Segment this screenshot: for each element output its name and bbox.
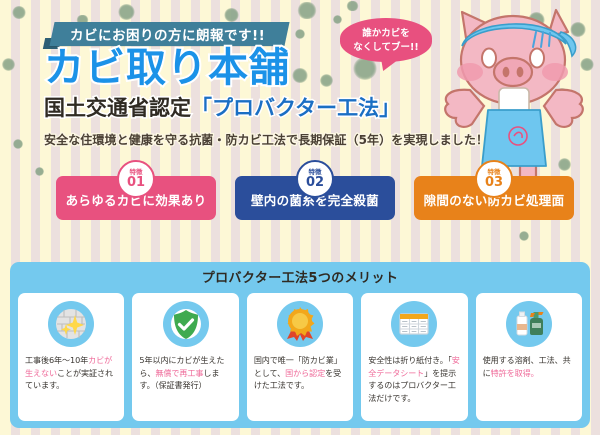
mold-blob-icon — [348, 2, 357, 10]
mold-blob-icon — [294, 70, 306, 81]
mold-blob-icon — [120, 6, 133, 18]
merit-text-highlight: 特許を取得。 — [491, 368, 539, 378]
mold-blob-icon — [322, 76, 331, 85]
merit-text: 5年以内にカビが生えたら、無償で再工事します。（保証書発行） — [139, 354, 231, 392]
mold-blob-icon — [4, 60, 13, 69]
feature-card-01[interactable]: 特徴 01 あらゆるカビに効果あり — [56, 176, 216, 220]
mold-blob-icon — [14, 140, 22, 148]
announcement-ribbon: カビにお困りの方に朗報です!! — [49, 22, 289, 46]
merits-panel: プロバクター工法5つのメリット — [10, 262, 590, 428]
page-title: カビ取り本舗 — [44, 48, 290, 88]
merit-text-part: 安全性は折り紙付き。「 — [368, 355, 451, 365]
landing-page: カビにお困りの方に朗報です!! カビ取り本舗 国土交通省認定「プロバクター工法」… — [0, 0, 600, 435]
merit-text: 国内で唯一「防カビ業」として、国から認定を受けた工法です。 — [254, 354, 346, 392]
bubble-line-1: 誰かカビを — [362, 28, 410, 39]
merit-card[interactable]: 安全性は折り紙付き。「安全データシート」を提示するのはプロバクター工法だけです。 — [361, 293, 467, 421]
speech-bubble: 誰かカビを なくしてブー!! — [340, 18, 432, 62]
feature-badge-number: 01 — [127, 176, 145, 189]
merit-text-highlight: 国から認定 — [285, 368, 325, 378]
merit-card[interactable]: 工事後6年〜10年カビが生えないことが実証されています。 — [18, 293, 124, 421]
feature-card-02[interactable]: 特徴 02 壁内の菌糸を完全殺菌 — [235, 176, 395, 220]
merit-text-part: 工事後6年〜10年 — [25, 355, 88, 365]
mold-blob-icon — [520, 232, 528, 240]
merit-text: 安全性は折り紙付き。「安全データシート」を提示するのはプロバクター工法だけです。 — [368, 354, 460, 404]
feature-number-badge: 特徴 02 — [296, 160, 334, 198]
gold-award-rosette-icon — [277, 301, 323, 347]
bubble-line-2: なくしてブー!! — [353, 42, 418, 53]
ribbon-text: カビにお困りの方に朗報です!! — [70, 24, 265, 44]
feature-badge-number: 03 — [485, 176, 503, 189]
mold-blob-icon — [226, 10, 237, 20]
mold-blob-icon — [356, 60, 374, 77]
mold-blob-icon — [296, 30, 304, 38]
feature-card-03[interactable]: 特徴 03 隙間のない防カビ処理面 — [414, 176, 574, 220]
sparkling-wall-icon — [48, 301, 94, 347]
merit-card[interactable]: 5年以内にカビが生えたら、無償で再工事します。（保証書発行） — [132, 293, 238, 421]
subtitle-certification: 国土交通省認定 — [44, 96, 191, 120]
subtitle: 国土交通省認定「プロバクター工法」 — [44, 98, 400, 119]
feature-number-badge: 特徴 01 — [117, 160, 155, 198]
mold-blob-icon — [14, 8, 24, 17]
merit-text: 使用する溶剤、工法、共に特許を取得。 — [483, 354, 575, 379]
safety-data-sheet-icon — [391, 301, 437, 347]
feature-badge-number: 02 — [306, 176, 324, 189]
feature-badge-list: 特徴 01 あらゆるカビに効果あり 特徴 02 壁内の菌糸を完全殺菌 特徴 03… — [56, 176, 576, 220]
mold-blob-icon — [36, 168, 43, 175]
merit-card-list: 工事後6年〜10年カビが生えないことが実証されています。 5年以内にカビが生えた… — [18, 293, 582, 421]
feature-number-badge: 特徴 03 — [475, 160, 513, 198]
merits-title: プロバクター工法5つのメリット — [18, 269, 582, 289]
merit-card[interactable]: 国内で唯一「防カビ業」として、国から認定を受けた工法です。 — [247, 293, 353, 421]
merit-card[interactable]: 使用する溶剤、工法、共に特許を取得。 — [476, 293, 582, 421]
mold-blob-icon — [300, 4, 314, 17]
subtitle-method-name: 「プロバクター工法」 — [191, 96, 400, 120]
lead-text: 安全な住環境と健康を守る抗菌・防カビ工法で長期保証（5年）を実現しました！ — [44, 131, 488, 148]
detergent-spray-bottle-icon — [506, 301, 552, 347]
merit-text: 工事後6年〜10年カビが生えないことが実証されています。 — [25, 354, 117, 392]
merit-text-highlight: 無償で再工事 — [155, 368, 203, 378]
green-shield-check-icon — [163, 301, 209, 347]
